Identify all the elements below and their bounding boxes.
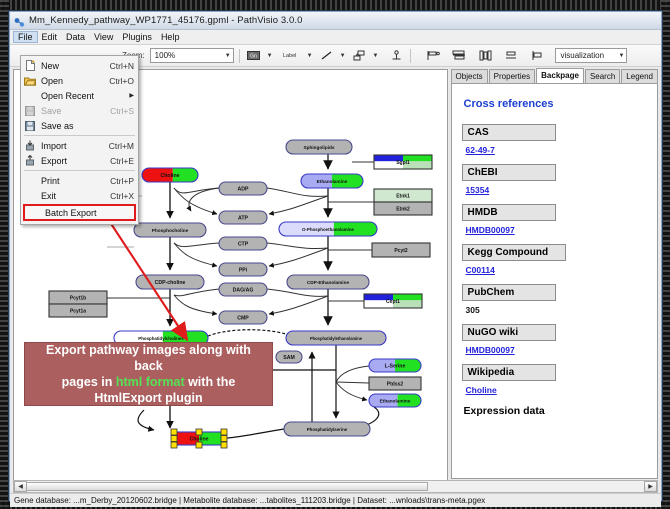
file-menu-dropdown[interactable]: New Ctrl+N Open Ctrl+O Open Recent ▶ Sav… bbox=[20, 55, 139, 225]
metabolite-label: PPi bbox=[239, 267, 248, 273]
menu-bar: File Edit Data View Plugins Help bbox=[10, 30, 661, 45]
tab-search[interactable]: Search bbox=[585, 69, 620, 83]
xref-value-pubchem: 305 bbox=[466, 305, 649, 315]
xref-value-cas[interactable]: 62-49-7 bbox=[466, 145, 649, 155]
callout-annotation: Export pathway images along with back pa… bbox=[24, 342, 273, 406]
menu-item-batch-export-label: Batch Export bbox=[45, 208, 134, 218]
menu-item-open-accel: Ctrl+O bbox=[109, 76, 138, 86]
metabolite-ophosphoethanolamine[interactable]: O-Phosphoethanolamine bbox=[279, 222, 377, 236]
callout-line2-pre: pages in bbox=[62, 375, 116, 389]
metabolite-atp[interactable]: ATP bbox=[219, 211, 267, 224]
panel-tab-strip: Objects Properties Backpage Search Legen… bbox=[451, 69, 658, 83]
xref-row-hmdb: HMDB HMDB00097 bbox=[462, 204, 649, 235]
xref-link-cas[interactable]: 62-49-7 bbox=[466, 145, 495, 155]
menu-item-exit-label: Exit bbox=[41, 191, 110, 201]
menu-item-export-accel: Ctrl+E bbox=[110, 156, 138, 166]
gene-cept1[interactable]: Cept1 bbox=[364, 294, 422, 308]
xref-value-hmdb[interactable]: HMDB00097 bbox=[466, 225, 649, 235]
metabolite-label: CDP-Ethanolamine bbox=[307, 280, 350, 285]
menu-item-save-as-label: Save as bbox=[41, 121, 134, 131]
selection-handle[interactable] bbox=[196, 442, 202, 448]
menu-edit[interactable]: Edit bbox=[38, 31, 63, 43]
status-text: Gene database: ...m_Derby_20120602.bridg… bbox=[14, 496, 485, 505]
selection-handle[interactable] bbox=[171, 436, 177, 442]
import-icon bbox=[23, 140, 37, 152]
cross-references-heading: Cross references bbox=[464, 98, 649, 110]
gene-label: Ptdss2 bbox=[387, 381, 404, 387]
menu-item-batch-export[interactable]: Batch Export bbox=[23, 204, 136, 221]
metabolite-label: Phosphatidylserine bbox=[307, 427, 348, 432]
menu-plugins[interactable]: Plugins bbox=[118, 31, 157, 43]
menu-item-open-label: Open bbox=[41, 76, 109, 86]
open-folder-icon bbox=[23, 75, 37, 87]
menu-separator-2 bbox=[24, 170, 135, 171]
blank-icon-4 bbox=[27, 207, 41, 219]
datanode-tool-button[interactable]: Gn bbox=[245, 47, 262, 64]
xref-value-chebi[interactable]: 15354 bbox=[466, 185, 649, 195]
xref-value-kegg[interactable]: C00114 bbox=[466, 265, 649, 275]
metabolite-label: CTP bbox=[238, 241, 249, 247]
xref-link-chebi[interactable]: 15354 bbox=[466, 185, 490, 195]
anchor-tool-button[interactable] bbox=[388, 47, 405, 64]
save-disk-icon bbox=[23, 105, 37, 117]
gene-pcyt1a[interactable]: Pcyt1a bbox=[49, 304, 107, 317]
blank-icon-3 bbox=[23, 190, 37, 202]
metabolite-label: SAM bbox=[283, 355, 295, 361]
gene-label: Pcyt2 bbox=[394, 248, 408, 254]
expression-data-heading: Expression data bbox=[464, 405, 649, 417]
save-as-disk-icon bbox=[23, 120, 37, 132]
xref-row-cas: CAS 62-49-7 bbox=[462, 124, 649, 155]
label-dropdown-icon[interactable]: ▼ bbox=[305, 53, 315, 59]
shape-tool-button[interactable] bbox=[351, 47, 368, 64]
blank-icon-2 bbox=[23, 175, 37, 187]
gene-label: Pcyt1a bbox=[70, 308, 86, 314]
blank-icon bbox=[23, 90, 37, 102]
gene-label: Pcyt1b bbox=[70, 295, 86, 301]
metabolite-label: CDP-choline bbox=[155, 280, 186, 286]
xref-row-kegg: Kegg Compound C00114 bbox=[462, 244, 649, 275]
metabolite-label: Phosphocholine bbox=[152, 228, 189, 233]
right-side-panel: Objects Properties Backpage Search Legen… bbox=[451, 69, 658, 479]
frame-edge-right bbox=[661, 0, 670, 509]
menu-item-open[interactable]: Open Ctrl+O bbox=[21, 73, 138, 88]
metabolite-phosphatidylserine[interactable]: Phosphatidylserine bbox=[284, 422, 370, 436]
metabolite-ppi[interactable]: PPi bbox=[219, 263, 267, 276]
stack-icon[interactable] bbox=[502, 47, 519, 64]
metabolite-ctp[interactable]: CTP bbox=[219, 237, 267, 250]
toolbar-separator-2 bbox=[410, 49, 411, 63]
callout-text: Export pathway images along with back pa… bbox=[25, 342, 272, 406]
selection-handle[interactable] bbox=[171, 442, 177, 448]
menu-item-import[interactable]: Import Ctrl+M bbox=[21, 138, 138, 153]
toolbar-separator bbox=[239, 49, 240, 63]
metabolite-ethanolamine-top[interactable]: Ethanolamine bbox=[301, 174, 363, 188]
title-bar: Mm_Kennedy_pathway_WP1771_45176.gpml - P… bbox=[10, 12, 661, 30]
xref-source-wikipedia: Wikipedia bbox=[462, 364, 556, 381]
metabolite-label: Ethanolamine bbox=[317, 179, 348, 184]
zoom-combo[interactable]: 100% ▼ bbox=[150, 48, 234, 63]
tab-legend[interactable]: Legend bbox=[621, 69, 658, 83]
pathvisio-app-icon bbox=[14, 15, 25, 26]
menu-item-new-accel: Ctrl+N bbox=[110, 61, 138, 71]
align-center-icon[interactable] bbox=[450, 47, 467, 64]
status-bar: Gene database: ...m_Derby_20120602.bridg… bbox=[10, 493, 661, 507]
callout-line2-highlight: html format bbox=[116, 375, 185, 389]
new-document-icon bbox=[23, 60, 37, 72]
common-width-icon[interactable] bbox=[528, 47, 545, 64]
metabolite-choline-selected[interactable]: Choline bbox=[171, 429, 227, 448]
gene-etnk2[interactable]: Etnk2 bbox=[374, 202, 432, 215]
canvas-horizontal-scrollbar[interactable]: ◀ ▶ bbox=[13, 480, 658, 493]
align-left-icon[interactable] bbox=[424, 47, 441, 64]
pathvisio-window: Mm_Kennedy_pathway_WP1771_45176.gpml - P… bbox=[9, 11, 662, 501]
menu-view[interactable]: View bbox=[90, 31, 118, 43]
xref-source-pubchem: PubChem bbox=[462, 284, 556, 301]
menu-item-export-label: Export bbox=[41, 156, 110, 166]
visualization-combo[interactable]: visualization ▼ bbox=[555, 48, 627, 63]
metabolite-label: CMP bbox=[237, 315, 249, 321]
align-middle-icon[interactable] bbox=[476, 47, 493, 64]
xref-source-chebi: ChEBI bbox=[462, 164, 556, 181]
xref-link-kegg[interactable]: C00114 bbox=[466, 265, 495, 275]
screen-root: Mm_Kennedy_pathway_WP1771_45176.gpml - P… bbox=[0, 0, 670, 509]
metabolite-label: Phosphatidylcholines bbox=[138, 336, 184, 341]
submenu-arrow-icon: ▶ bbox=[129, 92, 138, 99]
xref-link-hmdb[interactable]: HMDB00097 bbox=[466, 225, 515, 235]
metabolite-label: Choline bbox=[160, 173, 179, 179]
selection-handle[interactable] bbox=[221, 442, 227, 448]
line-tool-button[interactable] bbox=[318, 47, 335, 64]
xref-link-wikipedia[interactable]: Choline bbox=[466, 385, 497, 395]
menu-item-save-accel: Ctrl+S bbox=[110, 106, 138, 116]
menu-item-open-recent[interactable]: Open Recent ▶ bbox=[21, 88, 138, 103]
xref-row-chebi: ChEBI 15354 bbox=[462, 164, 649, 195]
xref-row-pubchem: PubChem 305 bbox=[462, 284, 649, 315]
chevron-down-icon: ▼ bbox=[219, 53, 231, 59]
scrollbar-thumb[interactable] bbox=[26, 482, 428, 491]
metabolite-sam[interactable]: SAM bbox=[276, 351, 302, 363]
gene-label: Etnk2 bbox=[396, 206, 410, 212]
xref-row-nugo: NuGO wiki HMDB00097 bbox=[462, 324, 649, 355]
metabolite-label: L-Serine bbox=[385, 363, 406, 369]
xref-value-nugo[interactable]: HMDB00097 bbox=[466, 345, 649, 355]
menu-data[interactable]: Data bbox=[62, 31, 90, 43]
gene-etnk1[interactable]: Etnk1 bbox=[374, 189, 432, 202]
visualization-value: visualization bbox=[560, 51, 604, 60]
callout-line3: HtmlExport plugin bbox=[94, 391, 202, 405]
menu-item-save: Save Ctrl+S bbox=[21, 103, 138, 118]
menu-file[interactable]: File bbox=[13, 31, 38, 43]
callout-line1: Export pathway images along with back bbox=[46, 343, 251, 373]
metabolite-cdp-ethanolamine[interactable]: CDP-Ethanolamine bbox=[287, 275, 369, 289]
tab-objects[interactable]: Objects bbox=[451, 69, 488, 83]
metabolite-adp[interactable]: ADP bbox=[219, 182, 267, 195]
metabolite-sphingolipids[interactable]: Sphingolipids bbox=[286, 140, 352, 154]
gene-label: Cept1 bbox=[386, 299, 400, 305]
window-title: Mm_Kennedy_pathway_WP1771_45176.gpml - P… bbox=[29, 15, 303, 26]
menu-item-save-label: Save bbox=[41, 106, 110, 116]
xref-source-kegg: Kegg Compound bbox=[462, 244, 566, 261]
menu-item-export[interactable]: Export Ctrl+E bbox=[21, 153, 138, 168]
gene-pcyt1b[interactable]: Pcyt1b bbox=[49, 291, 107, 304]
menu-item-open-recent-label: Open Recent bbox=[41, 91, 129, 101]
frame-edge-left bbox=[0, 0, 9, 509]
metabolite-label: ADP bbox=[238, 186, 249, 192]
metabolite-label: ATP bbox=[238, 215, 249, 221]
menu-item-exit[interactable]: Exit Ctrl+X bbox=[21, 188, 138, 203]
metabolite-label: Ethanolamine bbox=[380, 398, 411, 403]
menu-help[interactable]: Help bbox=[157, 31, 185, 43]
selection-handle[interactable] bbox=[221, 436, 227, 442]
metabolite-cmp[interactable]: CMP bbox=[219, 311, 267, 324]
scroll-right-arrow-icon[interactable]: ▶ bbox=[644, 481, 657, 492]
metabolite-label: Phosphatidylethanolamine bbox=[310, 336, 363, 341]
svg-text:Gn: Gn bbox=[250, 54, 257, 60]
metabolite-label: O-Phosphoethanolamine bbox=[302, 227, 355, 232]
export-icon bbox=[23, 155, 37, 167]
chevron-down-icon-2: ▼ bbox=[613, 53, 625, 59]
xref-source-hmdb: HMDB bbox=[462, 204, 556, 221]
callout-line2-post: with the bbox=[185, 375, 236, 389]
metabolite-ethanolamine-bot[interactable]: Ethanolamine bbox=[369, 394, 421, 407]
label-tool-button[interactable]: Label bbox=[278, 47, 302, 64]
menu-item-save-as[interactable]: Save as bbox=[21, 118, 138, 133]
backpage-content: Cross references CAS 62-49-7 ChEBI 15354… bbox=[451, 83, 658, 479]
metabolite-label: DAG/AG bbox=[233, 287, 254, 293]
metabolite-label: Choline bbox=[189, 436, 208, 442]
menu-item-new-label: New bbox=[41, 61, 110, 71]
menu-item-print[interactable]: Print Ctrl+P bbox=[21, 173, 138, 188]
menu-item-import-label: Import bbox=[41, 141, 109, 151]
gene-sgpl1[interactable]: Sgpl1 bbox=[374, 155, 432, 169]
selection-handle[interactable] bbox=[221, 429, 227, 435]
metabolite-dagdag[interactable]: DAG/AG bbox=[219, 283, 267, 296]
menu-separator-1 bbox=[24, 135, 135, 136]
menu-item-print-label: Print bbox=[41, 176, 110, 186]
xref-source-cas: CAS bbox=[462, 124, 556, 141]
metabolite-choline-top[interactable]: Choline bbox=[142, 168, 198, 182]
metabolite-label: Sphingolipids bbox=[304, 145, 335, 150]
xref-row-wikipedia: Wikipedia Choline bbox=[462, 364, 649, 395]
xref-value-wikipedia[interactable]: Choline bbox=[466, 385, 649, 395]
menu-item-import-accel: Ctrl+M bbox=[109, 141, 138, 151]
gene-label: Sgpl1 bbox=[396, 160, 410, 166]
frame-edge-top bbox=[0, 0, 670, 10]
metabolite-phosphatidylethanolamine[interactable]: Phosphatidylethanolamine bbox=[286, 331, 386, 345]
metabolite-l-serine[interactable]: L-Serine bbox=[369, 359, 421, 372]
metabolite-phosphocholine[interactable]: Phosphocholine bbox=[134, 223, 206, 237]
gene-pcyt2[interactable]: Pcyt2 bbox=[372, 243, 430, 257]
metabolite-cdp-choline[interactable]: CDP-choline bbox=[136, 275, 204, 289]
zoom-value: 100% bbox=[155, 51, 175, 60]
selection-handle[interactable] bbox=[171, 429, 177, 435]
shape-dropdown-icon[interactable]: ▼ bbox=[371, 53, 381, 59]
xref-link-nugo[interactable]: HMDB00097 bbox=[466, 345, 515, 355]
menu-item-exit-accel: Ctrl+X bbox=[110, 191, 138, 201]
menu-item-print-accel: Ctrl+P bbox=[110, 176, 138, 186]
tab-backpage[interactable]: Backpage bbox=[536, 68, 584, 83]
gene-label: Etnk1 bbox=[396, 193, 410, 199]
datanode-dropdown-icon[interactable]: ▼ bbox=[265, 53, 275, 59]
menu-item-new[interactable]: New Ctrl+N bbox=[21, 58, 138, 73]
line-dropdown-icon[interactable]: ▼ bbox=[338, 53, 348, 59]
selection-handle[interactable] bbox=[196, 429, 202, 435]
gene-ptdss2[interactable]: Ptdss2 bbox=[369, 377, 421, 390]
tab-properties[interactable]: Properties bbox=[489, 69, 535, 83]
xref-source-nugo: NuGO wiki bbox=[462, 324, 556, 341]
